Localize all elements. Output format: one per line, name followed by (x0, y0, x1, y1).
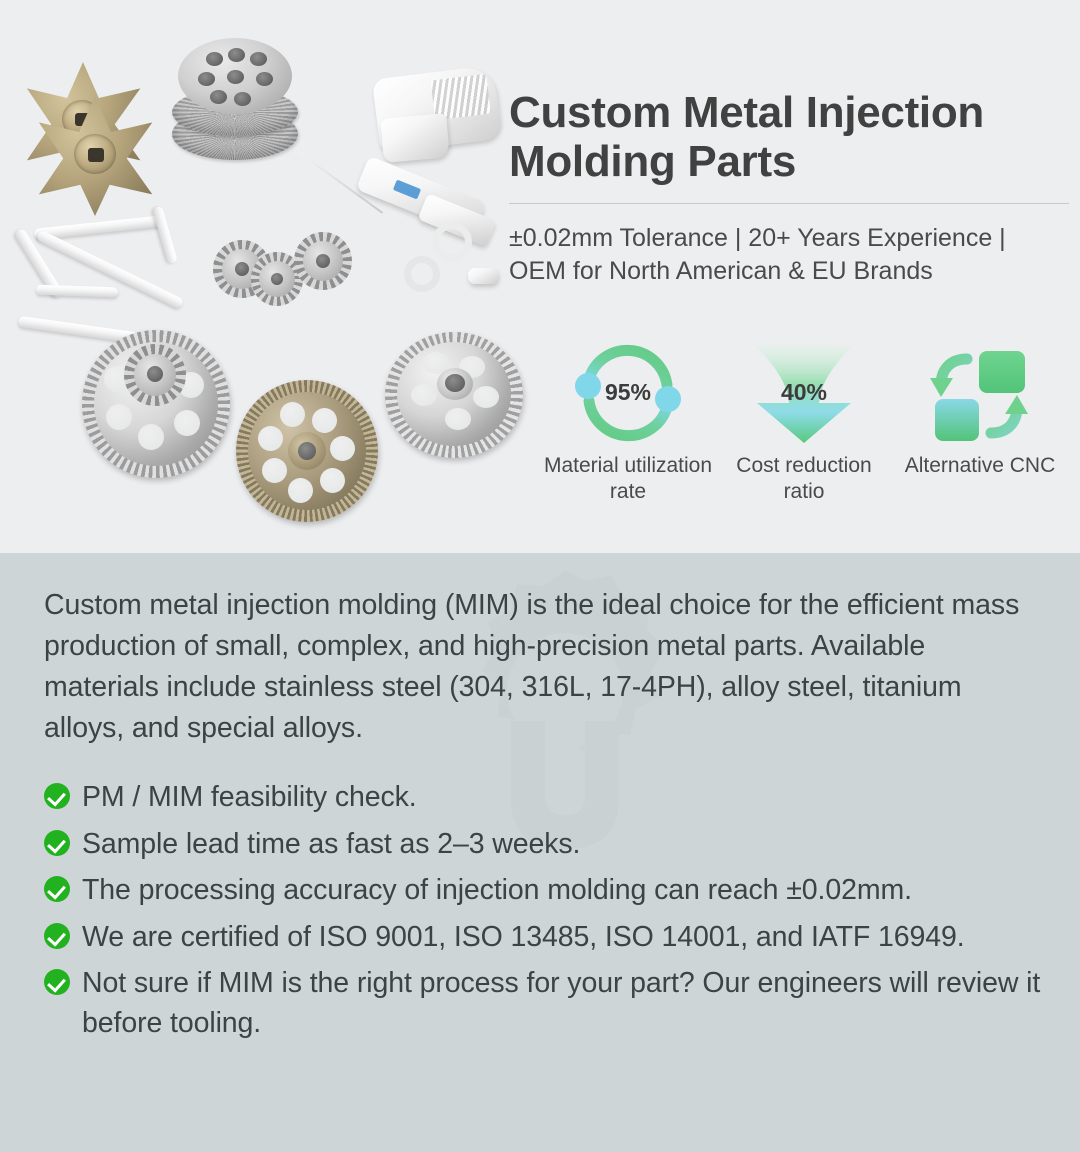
intro-paragraph: Custom metal injection molding (MIM) is … (44, 585, 1044, 749)
bronze-gear-bore (298, 442, 316, 460)
check-circle-icon (44, 876, 70, 902)
biopsy-gun-ring-upper (432, 222, 472, 262)
bronze-web-1 (280, 402, 305, 427)
large-silver-gear-tilted (385, 332, 523, 458)
list-item: Not sure if MIM is the right process for… (44, 963, 1044, 1044)
page-title: Custom Metal Injection Molding Parts (509, 88, 1069, 187)
star-cam-lower-bore (88, 148, 104, 162)
silver-gear-web-2 (106, 404, 132, 430)
product-photo-collage (0, 0, 520, 553)
stat-icon-wrap-3 (892, 333, 1068, 451)
bronze-web-7 (258, 426, 283, 451)
panel-content: Custom metal injection molding (MIM) is … (44, 585, 1044, 1044)
stat-value-1: 95% (540, 379, 716, 406)
silver-gear-web-4 (174, 410, 200, 436)
check-circle-icon (44, 783, 70, 809)
tilted-web-5 (411, 384, 437, 406)
hero-subtitle: ±0.02mm Tolerance | 20+ Years Experience… (509, 222, 1069, 288)
check-circle-icon (44, 830, 70, 856)
tilted-gear-bore (445, 374, 465, 392)
tilted-web-3 (473, 386, 499, 408)
stack-hole-2 (228, 48, 245, 62)
bronze-web-5 (288, 478, 313, 503)
silver-gear-center-pinion (124, 344, 186, 406)
brass-star-cam-lower (34, 96, 156, 216)
stat-label-1: Material utilization rate (540, 453, 716, 506)
pinion-gear-right (294, 232, 352, 290)
bronze-web-3 (330, 436, 355, 461)
infographic-page: Custom Metal Injection Molding Parts ±0.… (0, 0, 1080, 1152)
list-item: PM / MIM feasibility check. (44, 777, 1044, 817)
stat-icon-wrap-1: 95% (540, 333, 716, 451)
center-pinion-bore (147, 366, 163, 382)
title-divider (509, 203, 1069, 204)
check-circle-icon (44, 969, 70, 995)
check-circle-icon (44, 923, 70, 949)
stat-cost-reduction: 40% Cost reduction ratio (716, 333, 892, 506)
bullet-text: We are certified of ISO 9001, ISO 13485,… (82, 917, 965, 957)
bracket-tube-mid (36, 285, 118, 298)
stat-label-2: Cost reduction ratio (716, 453, 892, 506)
stat-label-3: Alternative CNC (892, 453, 1068, 479)
list-item: Sample lead time as fast as 2–3 weeks. (44, 824, 1044, 864)
stack-hole-6 (256, 72, 273, 86)
bracket-tube-right (152, 206, 178, 265)
biopsy-gun-thumbwheel (468, 268, 498, 284)
feature-bullet-list: PM / MIM feasibility check. Sample lead … (44, 777, 1044, 1044)
exchange-squares-icon (927, 345, 1033, 445)
bronze-web-6 (262, 458, 287, 483)
bronze-web-2 (312, 408, 337, 433)
medical-handle-neck (380, 113, 450, 163)
bullet-text: The processing accuracy of injection mol… (82, 870, 912, 910)
tilted-web-4 (445, 408, 471, 430)
silver-gear-web-3 (138, 424, 164, 450)
stack-hole-4 (198, 72, 215, 86)
stat-value-2: 40% (716, 379, 892, 406)
stacked-multilayer-gear (170, 30, 300, 175)
large-silver-gear-with-pinion (82, 330, 230, 478)
pinion-right-bore (316, 254, 330, 268)
stat-alternative-cnc: Alternative CNC (892, 333, 1068, 506)
stack-hole-8 (234, 92, 251, 106)
list-item: We are certified of ISO 9001, ISO 13485,… (44, 917, 1044, 957)
pinion-left-bore (235, 262, 249, 276)
description-panel: Custom metal injection molding (MIM) is … (0, 553, 1080, 1152)
bullet-text: PM / MIM feasibility check. (82, 777, 417, 817)
hero-text-block: Custom Metal Injection Molding Parts ±0.… (509, 88, 1069, 288)
stack-hole-1 (206, 52, 223, 66)
stack-hole-3 (250, 52, 267, 66)
stat-badges: 95% Material utilization rate (540, 333, 1070, 506)
stat-material-utilization: 95% Material utilization rate (540, 333, 716, 506)
large-bronze-gear (236, 380, 378, 522)
bullet-text: Not sure if MIM is the right process for… (82, 963, 1044, 1044)
stack-hole-7 (210, 90, 227, 104)
pinion-mid-bore (271, 273, 283, 285)
bronze-web-4 (320, 468, 345, 493)
biopsy-gun-ring-lower (404, 256, 440, 292)
bullet-text: Sample lead time as fast as 2–3 weeks. (82, 824, 580, 864)
stack-hole-5 (227, 70, 244, 84)
stat-icon-wrap-2: 40% (716, 333, 892, 451)
list-item: The processing accuracy of injection mol… (44, 870, 1044, 910)
hero-section: Custom Metal Injection Molding Parts ±0.… (0, 0, 1080, 553)
